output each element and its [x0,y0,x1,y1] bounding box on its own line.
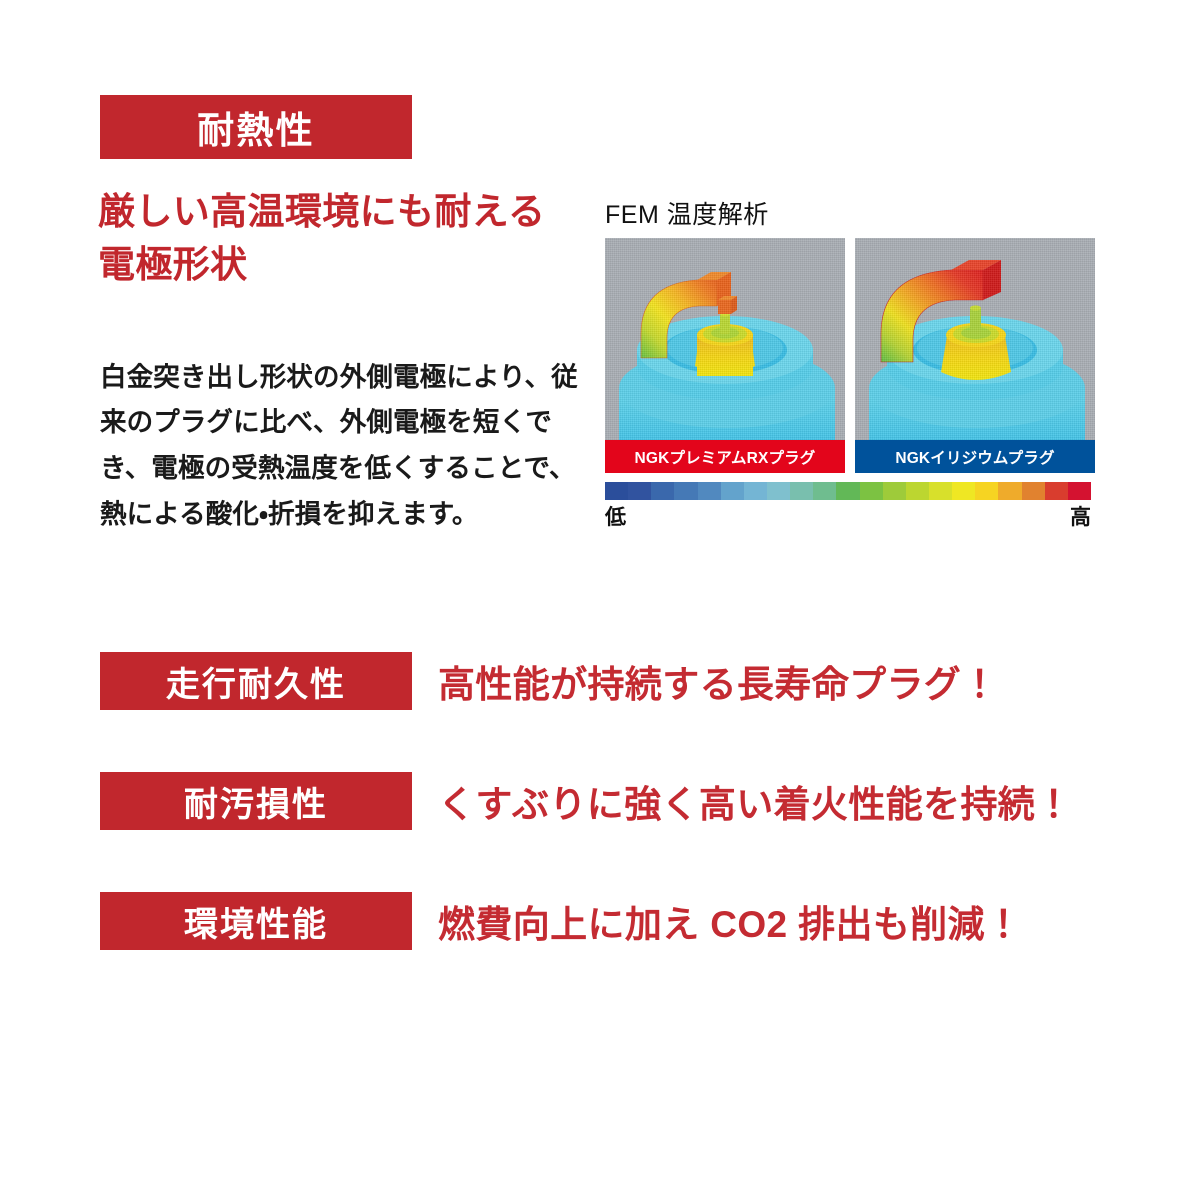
heading-line-2: 電極形状 [98,239,578,292]
color-scale-segment-3 [674,482,697,500]
color-scale-segment-9 [813,482,836,500]
color-scale-segment-11 [860,482,883,500]
feature-badge-durability: 走行耐久性 [100,652,412,710]
temperature-scale-labels: 低 高 [605,501,1091,531]
color-scale-segment-20 [1068,482,1091,500]
color-scale-segment-5 [721,482,744,500]
color-scale-segment-8 [790,482,813,500]
scale-label-high: 高 [1070,501,1091,531]
feature-badge-fouling-resistance: 耐汚損性 [100,772,412,830]
color-scale-segment-4 [698,482,721,500]
color-scale-segment-7 [767,482,790,500]
color-scale-segment-14 [929,482,952,500]
color-scale-segment-6 [744,482,767,500]
feature-badge-environmental: 環境性能 [100,892,412,950]
fem-analysis-block: FEM 温度解析 [605,200,1095,531]
heat-resistance-badge: 耐熱性 [100,95,412,159]
feature-text-durability: 高性能が持続する長寿命プラグ！ [438,654,999,708]
color-scale-segment-18 [1022,482,1045,500]
feature-row-durability: 走行耐久性 高性能が持続する長寿命プラグ！ [100,652,1060,710]
color-scale-segment-17 [998,482,1021,500]
color-scale-segment-10 [836,482,859,500]
fem-thermal-image-premium-rx [605,238,845,473]
color-scale-segment-1 [628,482,651,500]
fem-panel-premium-rx: NGKプレミアムRXプラグ [605,238,845,473]
heading-line-1: 厳しい高温環境にも耐える [98,186,578,239]
color-scale-segment-19 [1045,482,1068,500]
fem-caption-iridium: NGKイリジウムプラグ [855,440,1095,473]
fem-panel-iridium: NGKイリジウムプラグ [855,238,1095,473]
heat-resistance-body-text: 白金突き出し形状の外側電極により、従来のプラグに比べ、外側電極を短くでき、電極の… [100,355,592,538]
color-scale-segment-2 [651,482,674,500]
scale-label-low: 低 [605,501,626,531]
color-scale-segment-15 [952,482,975,500]
fem-analysis-title: FEM 温度解析 [605,200,1095,230]
color-scale-segment-13 [906,482,929,500]
color-scale-segment-0 [605,482,628,500]
temperature-color-scale [605,482,1091,500]
fem-thermal-image-iridium [855,238,1095,473]
feature-row-environmental: 環境性能 燃費向上に加え CO2 排出も削減！ [100,892,1060,950]
fem-caption-premium-rx: NGKプレミアムRXプラグ [605,440,845,473]
color-scale-segment-12 [883,482,906,500]
feature-text-environmental: 燃費向上に加え CO2 排出も削減！ [438,894,1022,948]
feature-row-fouling-resistance: 耐汚損性 くすぶりに強く高い着火性能を持続！ [100,772,1060,830]
feature-text-fouling-resistance: くすぶりに強く高い着火性能を持続！ [438,774,1073,828]
color-scale-segment-16 [975,482,998,500]
heat-resistance-heading: 厳しい高温環境にも耐える 電極形状 [98,186,578,291]
fem-panel-group: NGKプレミアムRXプラグ [605,238,1095,473]
